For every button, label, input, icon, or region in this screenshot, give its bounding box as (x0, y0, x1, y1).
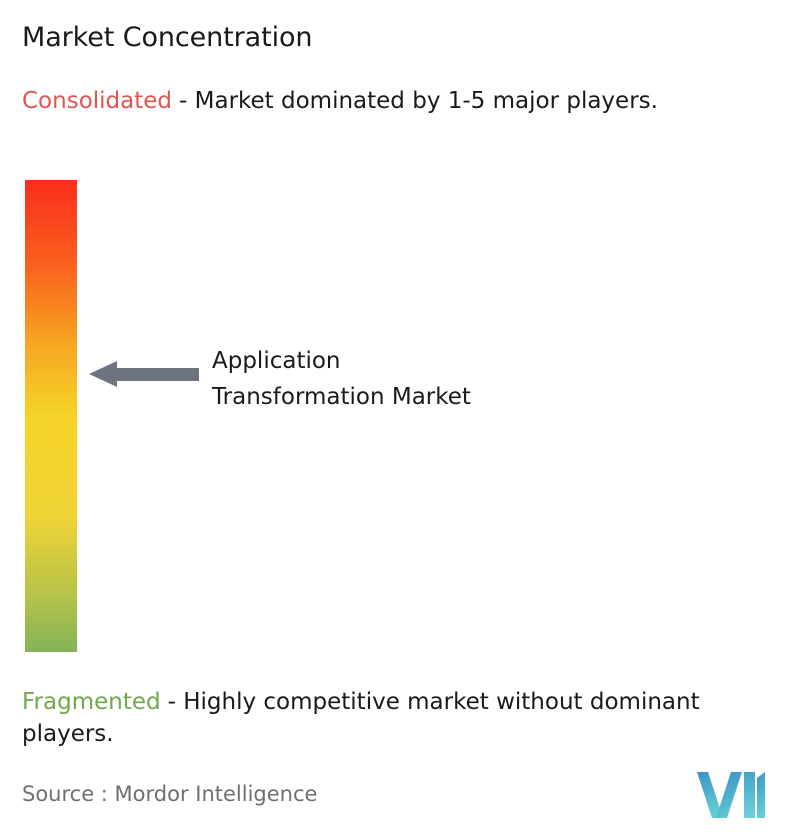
market-concentration-figure: Market Concentration Consolidated- Marke… (0, 0, 796, 834)
concentration-gradient-bar (25, 180, 77, 652)
market-name-label: Application Transformation Market (212, 343, 632, 415)
consolidated-description: - Market dominated by 1-5 major players. (179, 88, 658, 114)
mordor-intelligence-logo (697, 772, 765, 818)
market-name-line-2: Transformation Market (212, 379, 632, 415)
mi-logo-icon (697, 772, 765, 818)
consolidated-caption: Consolidated- Market dominated by 1-5 ma… (22, 85, 770, 117)
fragmented-caption: Fragmented- Highly competitive market wi… (22, 686, 784, 750)
market-pointer-arrow (89, 360, 199, 388)
source-attribution: Source : Mordor Intelligence (22, 780, 317, 808)
fragmented-keyword: Fragmented (22, 689, 161, 715)
market-name-line-1: Application (212, 343, 632, 379)
consolidated-keyword: Consolidated (22, 88, 172, 114)
page-title: Market Concentration (22, 21, 312, 55)
arrow-left-icon (89, 360, 199, 388)
